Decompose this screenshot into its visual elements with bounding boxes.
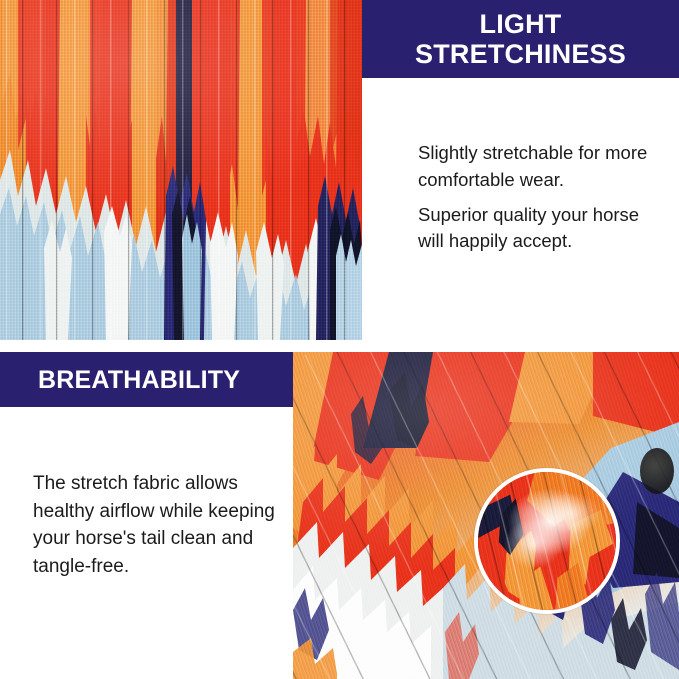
banner-light-stretchiness: LIGHT STRETCHINESS — [362, 0, 679, 78]
banner-light-stretchiness-label: LIGHT STRETCHINESS — [362, 9, 679, 69]
banner-breathability-label: BREATHABILITY — [0, 366, 240, 394]
banner-breathability: BREATHABILITY — [0, 352, 293, 407]
breathability-paragraph-1: The stretch fabric allows healthy airflo… — [33, 470, 281, 580]
banner-line-1: LIGHT — [480, 9, 562, 39]
top-fabric-image — [0, 0, 362, 340]
breathability-magnifier-detail — [474, 468, 620, 614]
fabric-dark-accent — [640, 448, 674, 494]
breathability-description: The stretch fabric allows healthy airflo… — [33, 470, 281, 580]
banner-line-2: STRETCHINESS — [415, 39, 626, 69]
stretchiness-description: Slightly stretchable for more comfortabl… — [418, 140, 668, 255]
product-infographic: LIGHT STRETCHINESS Slightly stretchable … — [0, 0, 679, 679]
stretchiness-paragraph-1: Slightly stretchable for more comfortabl… — [418, 140, 668, 194]
stretchiness-paragraph-2: Superior quality your horse will happily… — [418, 202, 668, 256]
